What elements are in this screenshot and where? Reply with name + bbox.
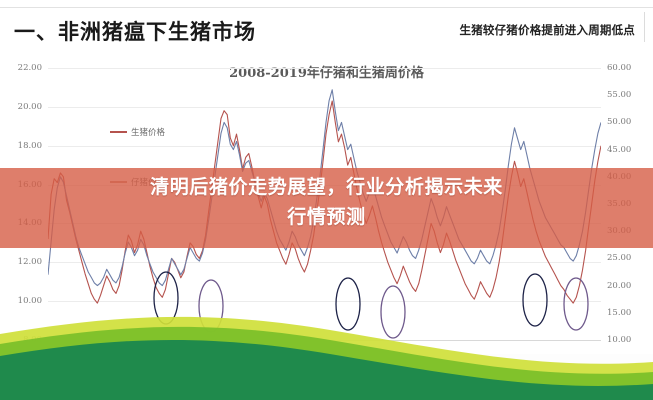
x-tick-label: 2008年第40周 — [83, 381, 90, 400]
y-tick-right: 45.00 — [607, 145, 631, 155]
cycle-low-ellipse — [381, 286, 405, 338]
x-tick-label: 2008年第14周 — [60, 381, 67, 400]
x-tick-label: 2013年第27周 — [303, 381, 310, 400]
x-tick-label: 2015年第27周 — [396, 381, 403, 400]
y-tick-right: 50.00 — [607, 117, 631, 127]
x-tick-label: 2016年第40周 — [454, 381, 461, 400]
x-tick-label: 2017年第27周 — [489, 381, 496, 400]
x-tick-label: 2017年第14周 — [478, 381, 485, 400]
x-tick-label: 2018年第1周 — [512, 381, 519, 400]
x-tick-label: 2012年第40周 — [269, 381, 276, 400]
x-tick-label: 2008年第27周 — [71, 381, 78, 400]
x-tick-label: 2009年第1周 — [94, 381, 101, 400]
x-tick-label: 2010年第1周 — [141, 381, 148, 400]
x-tick-label: 2016年第1周 — [420, 381, 427, 400]
y-tick-left: 18.00 — [18, 141, 42, 151]
y-tick-left: 20.00 — [18, 102, 42, 112]
x-axis-line — [48, 340, 601, 341]
x-tick-label: 2016年第14周 — [431, 381, 438, 400]
header-divider — [644, 12, 645, 42]
x-tick-label: 2014年第1周 — [327, 381, 334, 400]
y-tick-right: 15.00 — [607, 308, 631, 318]
legend-item-hog: 生猪价格 — [110, 126, 165, 138]
x-tick-label: 2013年第40周 — [315, 381, 322, 400]
x-tick-label: 2011年第1周 — [187, 381, 194, 400]
x-tick-label: 2014年第14周 — [338, 381, 345, 400]
x-tick-label: 2012年第14周 — [245, 381, 252, 400]
x-tick-label: 2018年第40周 — [547, 381, 554, 400]
slide-canvas: 一、非洲猪瘟下生猪市场 生猪较仔猪价格提前进入周期低点 2008-2019年仔猪… — [0, 0, 653, 400]
x-tick-label: 2015年第1周 — [373, 381, 380, 400]
x-tick-label: 2011年第14周 — [199, 381, 206, 400]
x-tick-label: 2019年第1周 — [559, 381, 566, 400]
x-tick-label: 2015年第40周 — [408, 381, 415, 400]
x-tick-label: 2010年第27周 — [164, 381, 171, 400]
y-tick-left: 22.00 — [18, 63, 42, 73]
x-tick-label: 2011年第27周 — [211, 381, 218, 400]
x-tick-label: 2019年第13周 — [594, 381, 601, 400]
cycle-low-ellipse — [199, 280, 223, 332]
page-title: 一、非洲猪瘟下生猪市场 — [14, 16, 256, 46]
x-tick-label: 2018年第27周 — [536, 381, 543, 400]
x-tick-label: 2012年第27周 — [257, 381, 264, 400]
x-tick-label: 2009年第40周 — [129, 381, 136, 400]
x-axis-labels: 2008年第1周2008年第14周2008年第27周2008年第40周2009年… — [48, 381, 601, 400]
overlay-headline: 清明后猪价走势展望，行业分析揭示未来 行情预测 — [0, 172, 653, 232]
x-tick-label: 2019年第9周 — [582, 381, 589, 400]
x-tick-label: 2018年第14周 — [524, 381, 531, 400]
x-tick-label: 2017年第1周 — [466, 381, 473, 400]
y-tick-left: 12.00 — [18, 257, 42, 267]
legend-label-hog: 生猪价格 — [131, 126, 165, 138]
x-tick-label: 2009年第14周 — [106, 381, 113, 400]
legend-swatch-hog — [110, 131, 127, 133]
y-tick-right: 20.00 — [607, 281, 631, 291]
x-tick-label: 2013年第1周 — [280, 381, 287, 400]
y-tick-left: 8.00 — [23, 335, 42, 345]
x-tick-label: 2014年第27周 — [350, 381, 357, 400]
y-tick-right: 55.00 — [607, 90, 631, 100]
overlay-headline-line2: 行情预测 — [0, 202, 653, 232]
x-tick-label: 2012年第1周 — [234, 381, 241, 400]
x-tick-label: 2008年第1周 — [48, 381, 55, 400]
header-subtitle: 生猪较仔猪价格提前进入周期低点 — [460, 22, 636, 38]
overlay-headline-line1: 清明后猪价走势展望，行业分析揭示未来 — [0, 172, 653, 202]
y-tick-right: 10.00 — [607, 335, 631, 345]
header-top-rule — [0, 7, 653, 8]
y-tick-right: 60.00 — [607, 63, 631, 73]
x-tick-label: 2011年第40周 — [222, 381, 229, 400]
cycle-low-ellipse — [154, 272, 178, 324]
x-tick-label: 2009年第27周 — [118, 381, 125, 400]
x-tick-label: 2019年第5周 — [570, 381, 577, 400]
y-tick-right: 25.00 — [607, 253, 631, 263]
x-tick-label: 2010年第40周 — [176, 381, 183, 400]
cycle-low-ellipse — [523, 274, 547, 326]
x-tick-label: 2017年第40周 — [501, 381, 508, 400]
x-tick-label: 2013年第14周 — [292, 381, 299, 400]
x-tick-label: 2014年第40周 — [361, 381, 368, 400]
cycle-low-ellipse — [564, 278, 588, 330]
cycle-low-ellipse — [336, 278, 360, 330]
x-tick-label: 2015年第14周 — [385, 381, 392, 400]
x-tick-label: 2016年第27周 — [443, 381, 450, 400]
slide-header: 一、非洲猪瘟下生猪市场 生猪较仔猪价格提前进入周期低点 — [0, 0, 653, 54]
x-tick-label: 2010年第14周 — [152, 381, 159, 400]
y-tick-left: 10.00 — [18, 296, 42, 306]
